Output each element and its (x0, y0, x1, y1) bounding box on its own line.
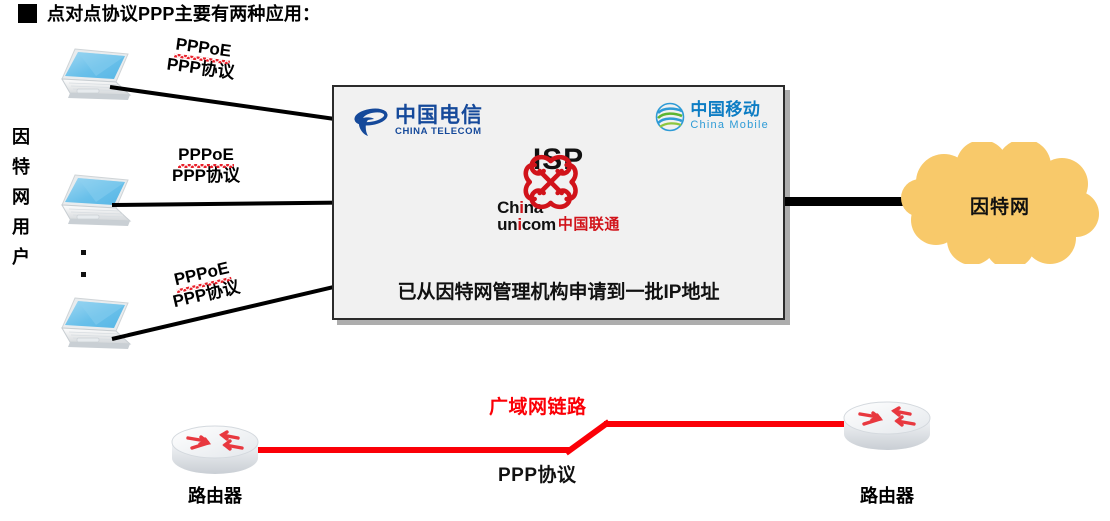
isp-to-internet-link (785, 197, 917, 206)
internet-cloud[interactable]: 因特网 (900, 142, 1100, 264)
router-icon-2[interactable] (840, 398, 934, 454)
china-mobile-mark (655, 102, 685, 132)
router-label-2: 路由器 (840, 482, 934, 508)
ppp-label-1: PPPoE PPP协议 (166, 34, 239, 84)
laptop-icon-3[interactable] (44, 295, 136, 357)
ppp-label-3: PPPoE PPP协议 (166, 257, 242, 312)
wan-link-subtitle: PPP协议 (498, 460, 577, 487)
china-unicom-en-line2: unicom (497, 216, 556, 233)
china-unicom-mark (521, 153, 579, 211)
china-telecom-mark (350, 101, 390, 141)
isp-box[interactable]: 中国电信 CHINA TELECOM 中国移动 China Mobile ISP… (332, 85, 785, 320)
china-mobile-cn: 中国移动 (690, 101, 769, 119)
china-telecom-logo: 中国电信 CHINA TELECOM (350, 101, 483, 141)
vertical-ellipsis (81, 250, 87, 294)
square-bullet-icon (18, 4, 37, 23)
laptop-icon-1[interactable] (44, 46, 136, 108)
china-mobile-logo: 中国移动 China Mobile (655, 101, 769, 132)
ppp-link-line-1 (110, 85, 336, 121)
china-unicom-logo: China unicom 中国联通 (497, 199, 620, 233)
china-telecom-en: CHINA TELECOM (395, 126, 483, 137)
ppp-label-2: PPPoE PPP协议 (172, 145, 240, 186)
china-mobile-en: China Mobile (690, 119, 769, 132)
caption-char-5: 户 (8, 242, 34, 272)
internet-cloud-label: 因特网 (900, 192, 1100, 219)
page-title: 点对点协议PPP主要有两种应用： (18, 0, 320, 26)
china-telecom-cn: 中国电信 (395, 105, 483, 126)
wan-link-segment-left (240, 447, 570, 453)
caption-char-2: 特 (8, 152, 34, 182)
caption-char-1: 因 (8, 122, 34, 152)
router-icon-1[interactable] (168, 422, 262, 478)
ppp-label-2-line2: PPP协议 (172, 166, 240, 186)
router-label-1: 路由器 (168, 482, 262, 508)
ppp-link-line-2 (112, 201, 338, 207)
page-title-text: 点对点协议PPP主要有两种应用： (47, 0, 320, 26)
china-unicom-cn: 中国联通 (558, 216, 620, 233)
ppp-label-1-line1: PPPoE (174, 35, 232, 63)
internet-users-caption: 因 特 网 用 户 (8, 122, 34, 272)
isp-footer-text: 已从因特网管理机构申请到一批IP地址 (334, 277, 783, 304)
caption-char-4: 用 (8, 212, 34, 242)
ppp-label-2-line1: PPPoE (178, 145, 234, 166)
wan-link-segment-right (604, 421, 866, 427)
caption-char-3: 网 (8, 182, 34, 212)
wan-link-title: 广域网链路 (489, 392, 587, 419)
